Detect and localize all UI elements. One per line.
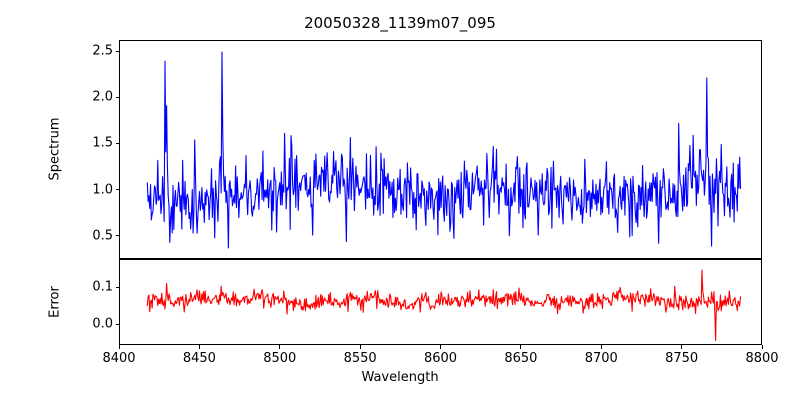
spectrum-ytick-mark (116, 143, 120, 144)
xtick-mark (762, 345, 763, 349)
spectrum-y-axis-label: Spectrum (48, 118, 63, 181)
xtick-label: 8750 (665, 351, 698, 366)
spectrum-ytick-label: 1.0 (71, 182, 113, 197)
x-axis-label: Wavelength (0, 370, 800, 385)
xtick-mark (681, 345, 682, 349)
spectrum-ytick-label: 0.5 (71, 228, 113, 243)
xtick-mark (119, 345, 120, 349)
figure-title: 20050328_1139m07_095 (0, 14, 800, 32)
xtick-label: 8650 (504, 351, 537, 366)
error-ytick-mark (116, 324, 120, 325)
xtick-mark (440, 345, 441, 349)
xtick-label: 8800 (745, 351, 778, 366)
spectrum-ytick-mark (116, 51, 120, 52)
xtick-label: 8450 (183, 351, 216, 366)
xtick-label: 8550 (344, 351, 377, 366)
figure-canvas: 20050328_1139m07_095 0.51.01.52.02.50.00… (0, 0, 800, 400)
spectrum-ytick-mark (116, 189, 120, 190)
xtick-label: 8500 (263, 351, 296, 366)
spectrum-ytick-label: 2.0 (71, 90, 113, 105)
error-ytick-label: 0.0 (71, 317, 113, 332)
xtick-mark (360, 345, 361, 349)
spectrum-ytick-label: 1.5 (71, 136, 113, 151)
xtick-label: 8700 (585, 351, 618, 366)
spectrum-ytick-mark (116, 97, 120, 98)
xtick-label: 8600 (424, 351, 457, 366)
xtick-mark (601, 345, 602, 349)
spectrum-panel (119, 40, 762, 259)
error-line (120, 260, 763, 346)
error-panel (119, 259, 762, 345)
error-y-axis-label: Error (48, 286, 63, 318)
spectrum-line (120, 41, 763, 260)
error-ytick-mark (116, 287, 120, 288)
xtick-mark (199, 345, 200, 349)
spectrum-ytick-label: 2.5 (71, 44, 113, 59)
xtick-label: 8400 (102, 351, 135, 366)
xtick-mark (520, 345, 521, 349)
error-ytick-label: 0.1 (71, 280, 113, 295)
spectrum-ytick-mark (116, 235, 120, 236)
xtick-mark (279, 345, 280, 349)
